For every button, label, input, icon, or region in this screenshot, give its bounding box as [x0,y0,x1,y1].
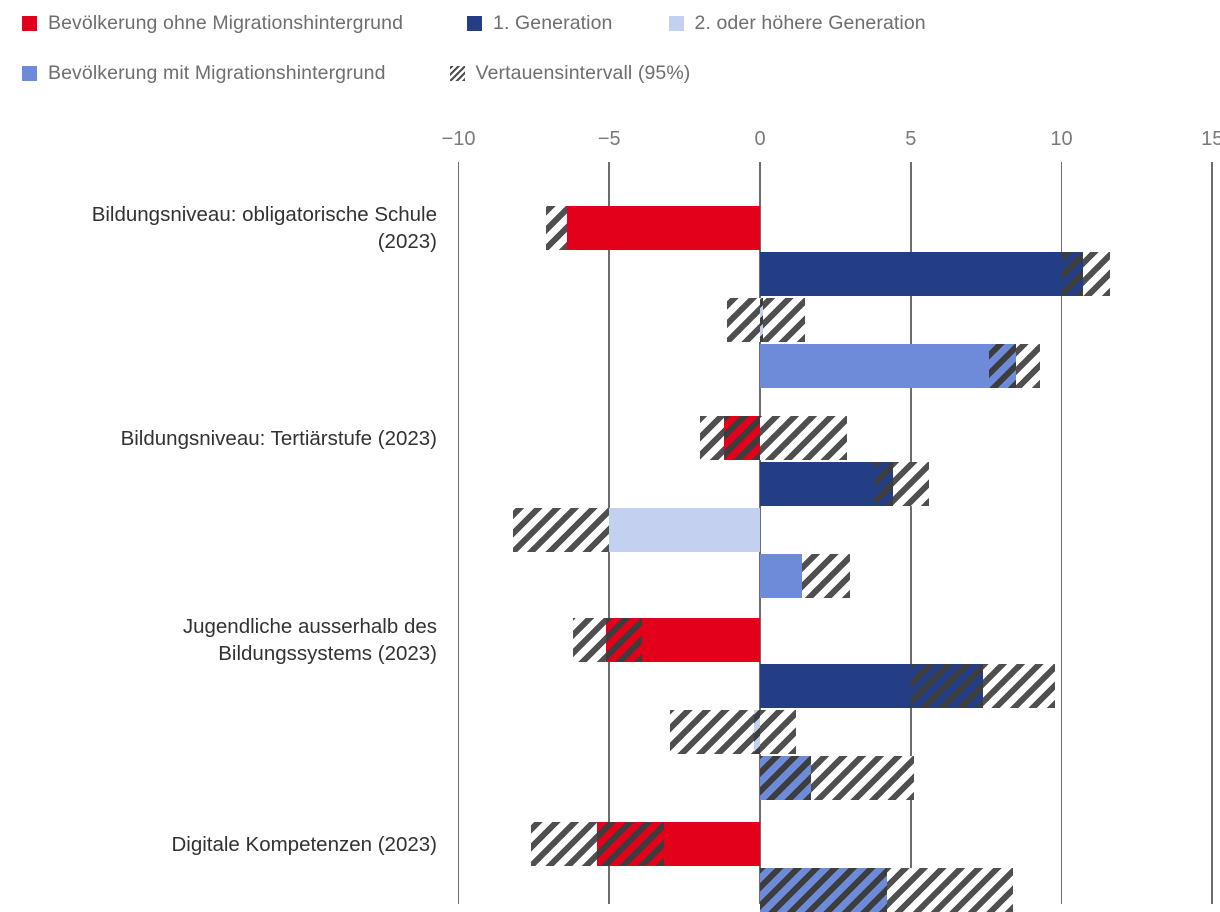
confidence-interval-band [727,298,805,342]
chart-plot-area: −10−5051015 Bildungsniveau: obligatorisc… [0,128,1220,904]
bar-row[interactable] [0,554,1220,598]
confidence-interval-overlay [597,822,663,866]
legend-item-confidence-interval[interactable]: Vertauensintervall (95%) [450,62,691,85]
bar-row[interactable] [0,822,1220,866]
legend-row-1: Bevölkerung ohne Migrationshintergrund 1… [22,12,960,35]
bar-row[interactable] [0,868,1220,912]
legend-label-first-generation: 1. Generation [493,12,612,35]
confidence-interval-band [700,416,848,460]
confidence-interval-band [802,554,850,598]
legend-label-with-migration: Bevölkerung mit Migrationshintergrund [48,62,386,85]
bar-row[interactable] [0,206,1220,250]
bar-row[interactable] [0,618,1220,662]
bar-row[interactable] [0,710,1220,754]
x-tick-label-10: 10 [1050,128,1072,151]
confidence-interval-band [513,508,609,552]
bar-row[interactable] [0,756,1220,800]
confidence-interval-overlay [754,710,760,754]
x-tick-label-neg5: −5 [598,128,621,151]
bar-row[interactable] [0,508,1220,552]
bar-row[interactable] [0,252,1220,296]
confidence-interval-overlay [911,664,983,708]
confidence-interval-overlay [875,462,893,506]
confidence-interval-overlay [760,756,811,800]
confidence-interval-overlay [760,868,887,912]
bar-0-3[interactable] [760,344,1016,388]
x-tick-label-15: 15 [1201,128,1220,151]
legend-label-no-migration: Bevölkerung ohne Migrationshintergrund [48,12,403,35]
confidence-interval-overlay [1062,252,1083,296]
chart-legend: Bevölkerung ohne Migrationshintergrund 1… [0,0,1220,110]
x-tick-label-5: 5 [905,128,916,151]
bar-row[interactable] [0,462,1220,506]
legend-swatch-second-generation [669,16,684,31]
confidence-interval-overlay [724,416,760,460]
legend-item-first-generation[interactable]: 1. Generation [467,12,612,35]
x-tick-label-0: 0 [754,128,765,151]
legend-swatch-first-generation [467,16,482,31]
confidence-interval-band [546,206,567,250]
confidence-interval-band [670,710,797,754]
bar-1-3[interactable] [760,554,802,598]
legend-swatch-no-migration [22,16,37,31]
bar-row[interactable] [0,344,1220,388]
bar-1-2[interactable] [609,508,760,552]
bar-0-0[interactable] [567,206,760,250]
chart-bars [0,162,1220,904]
legend-label-confidence-interval: Vertauensintervall (95%) [476,62,691,85]
legend-item-with-migration[interactable]: Bevölkerung mit Migrationshintergrund [22,62,386,85]
legend-item-second-generation[interactable]: 2. oder höhere Generation [669,12,926,35]
legend-swatch-with-migration [22,66,37,81]
confidence-interval-overlay [606,618,642,662]
legend-swatch-confidence-interval [450,66,465,81]
bar-0-1[interactable] [760,252,1083,296]
bar-row[interactable] [0,416,1220,460]
confidence-interval-overlay [989,344,1016,388]
bar-row[interactable] [0,664,1220,708]
legend-label-second-generation: 2. oder höhere Generation [695,12,926,35]
confidence-interval-overlay [760,298,763,342]
x-axis-tick-labels: −10−5051015 [0,128,1220,162]
bar-1-1[interactable] [760,462,893,506]
x-tick-label-neg10: −10 [442,128,476,151]
bar-row[interactable] [0,298,1220,342]
legend-row-2: Bevölkerung mit Migrationshintergrund Ve… [22,62,724,85]
legend-item-no-migration[interactable]: Bevölkerung ohne Migrationshintergrund [22,12,403,35]
